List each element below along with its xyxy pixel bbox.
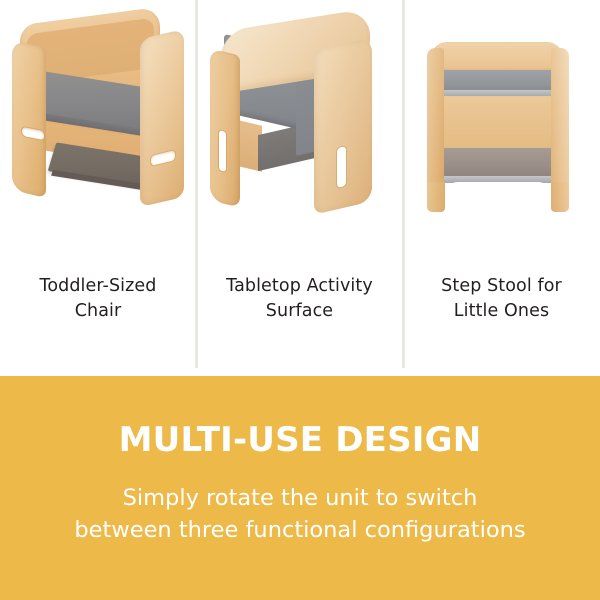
banner-subtitle: Simply rotate the unit to switch between…	[74, 483, 525, 547]
tabletop-illustration	[196, 0, 403, 250]
product-panels: Toddler-Sized Chair Tabletop Activity Su…	[0, 0, 600, 376]
tabletop-left-handle-cutout	[218, 129, 227, 173]
product-panel-tabletop-activity[interactable]: Tabletop Activity Surface	[196, 0, 403, 376]
caption-step-stool: Step Stool for Little Ones	[431, 274, 572, 325]
stool-bottom-step	[435, 148, 563, 178]
banner-subtitle-line-2: between three functional configurations	[74, 517, 525, 543]
tabletop-activity-photo	[196, 0, 403, 250]
stool-back-rail	[431, 42, 563, 72]
caption-line-1: Step Stool for	[441, 276, 562, 296]
tabletop-right-side-panel	[314, 37, 372, 214]
caption-toddler-chair: Toddler-Sized Chair	[30, 274, 167, 325]
step-stool-illustration	[403, 0, 600, 250]
stool-top-step	[437, 70, 561, 92]
toddler-chair-photo	[0, 0, 196, 250]
product-panel-toddler-chair[interactable]: Toddler-Sized Chair	[0, 0, 196, 376]
caption-tabletop-activity: Tabletop Activity Surface	[216, 274, 383, 325]
caption-line-2: Little Ones	[454, 301, 549, 321]
stool-left-foot	[427, 182, 445, 212]
caption-line-2: Surface	[266, 301, 333, 321]
caption-line-2: Chair	[75, 301, 122, 321]
step-stool-photo	[403, 0, 600, 250]
tabletop-left-side-panel	[210, 49, 240, 208]
banner-subtitle-line-1: Simply rotate the unit to switch	[123, 485, 478, 511]
tabletop-right-handle-cutout	[336, 145, 347, 190]
chair-illustration	[0, 0, 196, 250]
panel-divider-left	[195, 0, 198, 368]
caption-line-1: Tabletop Activity	[226, 276, 373, 296]
caption-line-1: Toddler-Sized	[40, 276, 157, 296]
stool-right-foot	[551, 182, 569, 212]
panel-divider-right	[402, 0, 405, 368]
multi-use-design-banner: MULTI-USE DESIGN Simply rotate the unit …	[0, 376, 600, 600]
chair-left-side-panel	[12, 40, 46, 198]
chair-right-side-panel	[140, 29, 184, 207]
stool-base-arch-cutout	[444, 182, 552, 212]
stool-top-step-edge	[437, 90, 561, 96]
product-panel-step-stool[interactable]: Step Stool for Little Ones	[403, 0, 600, 376]
banner-headline: MULTI-USE DESIGN	[119, 423, 482, 457]
